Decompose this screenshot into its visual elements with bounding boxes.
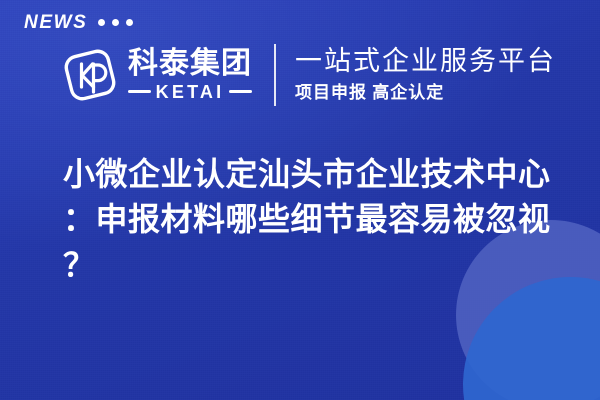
tagline-main: 一站式企业服务平台 [295, 46, 556, 76]
wordmark-rule-left [128, 90, 151, 93]
eyebrow-dot [126, 19, 133, 26]
news-banner: NEWS 科泰集团 [0, 0, 600, 400]
ketai-logo: 科泰集团 KETAI [62, 45, 252, 105]
headline-line-3: ？ [63, 243, 580, 288]
brand-row: 科泰集团 KETAI 一站式企业服务平台 项目申报 高企认定 [62, 44, 556, 106]
ketai-name-cn: 科泰集团 [128, 49, 252, 80]
ketai-name-en-row: KETAI [128, 83, 252, 101]
news-eyebrow: NEWS [24, 13, 133, 32]
headline: 小微企业认定汕头市企业技术中心 ：申报材料哪些细节最容易被忽视 ？ [63, 152, 580, 288]
headline-line-1: 小微企业认定汕头市企业技术中心 [63, 152, 580, 197]
tagline-block: 一站式企业服务平台 项目申报 高企认定 [295, 46, 556, 103]
ketai-wordmark: 科泰集团 KETAI [128, 49, 252, 101]
eyebrow-dot [112, 19, 119, 26]
eyebrow-dots-icon [98, 19, 133, 26]
ketai-diamond-kp-monogram-icon [62, 45, 118, 105]
wordmark-rule-right [229, 90, 252, 93]
headline-line-2: ：申报材料哪些细节最容易被忽视 [63, 197, 580, 242]
tagline-sub: 项目申报 高企认定 [295, 82, 556, 104]
news-eyebrow-label: NEWS [24, 13, 87, 32]
eyebrow-dot [98, 19, 105, 26]
brand-divider [274, 44, 276, 106]
ketai-name-en: KETAI [156, 83, 225, 101]
